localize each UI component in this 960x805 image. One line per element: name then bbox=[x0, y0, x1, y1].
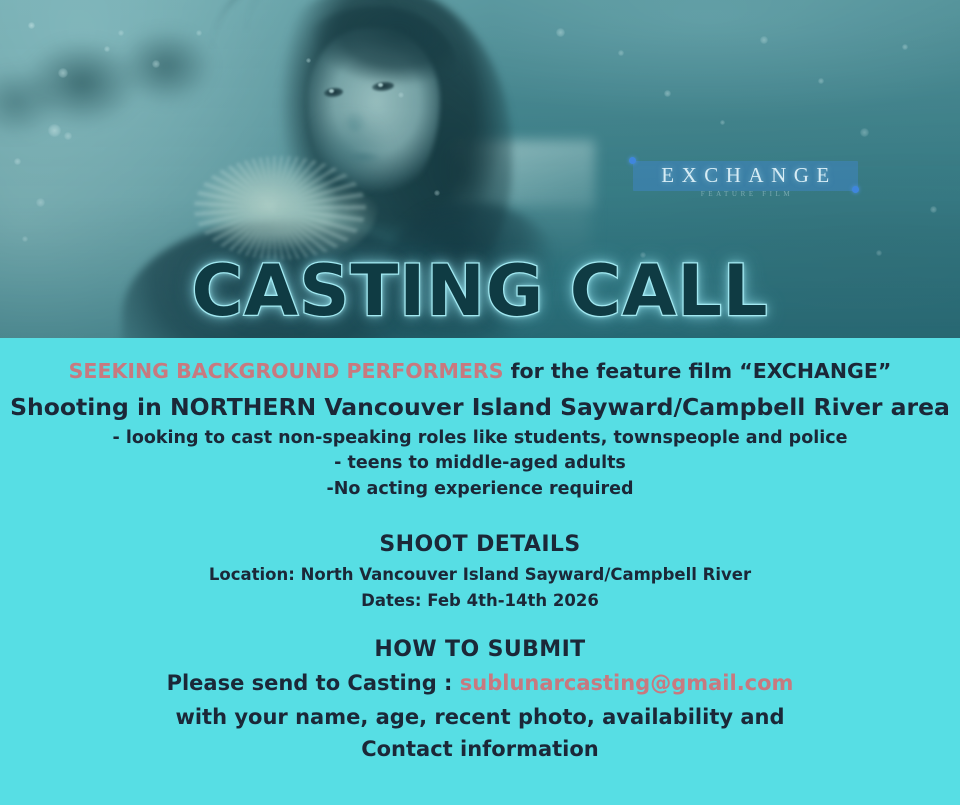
seeking-highlight: SEEKING BACKGROUND PERFORMERS bbox=[69, 359, 504, 383]
page-title: CASTING CALL bbox=[0, 250, 960, 332]
submit-requirements-line: with your name, age, recent photo, avail… bbox=[0, 705, 960, 729]
how-to-submit-heading: HOW TO SUBMIT bbox=[0, 637, 960, 662]
bullet-no-experience: -No acting experience required bbox=[0, 479, 960, 499]
seeking-line: SEEKING BACKGROUND PERFORMERS for the fe… bbox=[0, 359, 960, 383]
bullet-roles: - looking to cast non-speaking roles lik… bbox=[0, 428, 960, 448]
submit-email-prefix: Please send to Casting : bbox=[167, 671, 460, 695]
casting-call-poster: EXCHANGE FEATURE FILM CASTING CALL SEEKI… bbox=[0, 0, 960, 805]
seeking-rest: for the feature film “EXCHANGE” bbox=[503, 359, 891, 383]
submit-contact-line: Contact information bbox=[0, 737, 960, 761]
bullet-ages: - teens to middle-aged adults bbox=[0, 453, 960, 473]
shoot-details-heading: SHOOT DETAILS bbox=[0, 532, 960, 557]
logo-handle-dot bbox=[629, 157, 636, 164]
shoot-details-dates: Dates: Feb 4th-14th 2026 bbox=[0, 591, 960, 610]
logo-subtitle: FEATURE FILM bbox=[633, 190, 858, 198]
logo-handle-dot bbox=[852, 186, 859, 193]
casting-email-address[interactable]: sublunarcasting@gmail.com bbox=[460, 671, 794, 695]
shooting-location-line: Shooting in NORTHERN Vancouver Island Sa… bbox=[0, 393, 960, 421]
shoot-details-location: Location: North Vancouver Island Sayward… bbox=[0, 565, 960, 584]
logo-wordmark: EXCHANGE bbox=[633, 161, 858, 190]
submit-email-line: Please send to Casting : sublunarcasting… bbox=[0, 671, 960, 695]
exchange-logo: EXCHANGE FEATURE FILM bbox=[633, 161, 858, 201]
hero-photo: EXCHANGE FEATURE FILM CASTING CALL bbox=[0, 0, 960, 338]
